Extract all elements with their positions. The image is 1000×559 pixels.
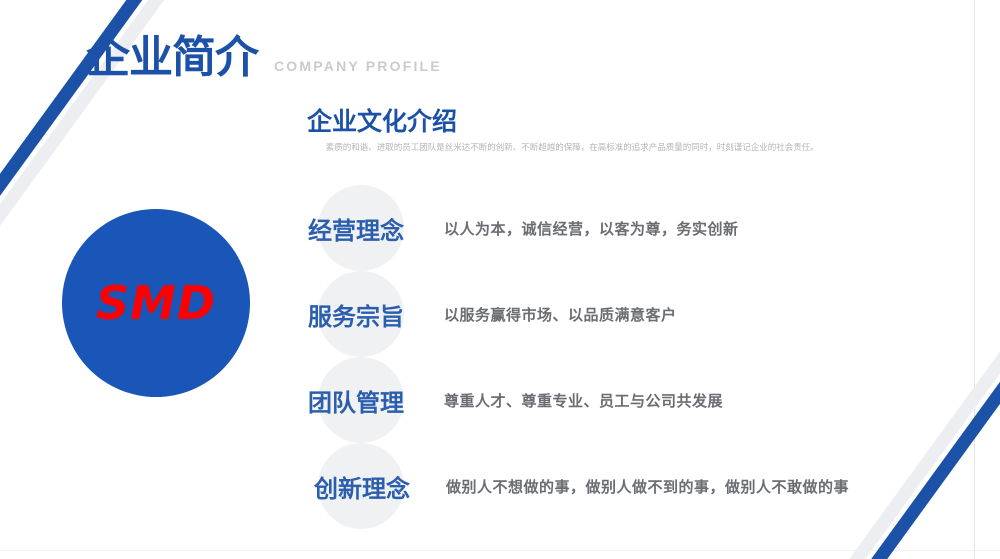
value-description: 以人为本，诚信经营，以客为尊，务实创新	[444, 218, 739, 239]
value-description: 以服务赢得市场、以品质满意客户	[444, 304, 677, 325]
page-title: 企业简介	[86, 36, 258, 80]
list-item: 经营理念 以人为本，诚信经营，以客为尊，务实创新	[300, 185, 940, 271]
company-values-list: 经营理念 以人为本，诚信经营，以客为尊，务实创新 服务宗旨 以服务赢得市场、以品…	[300, 185, 940, 529]
list-item: 服务宗旨 以服务赢得市场、以品质满意客户	[300, 271, 940, 357]
value-description: 尊重人才、尊重专业、员工与公司共发展	[444, 390, 723, 411]
value-label: 创新理念	[314, 469, 446, 504]
slide-header: 企业简介 COMPANY PROFILE	[86, 36, 442, 80]
top-left-ribbon-decoration	[0, 0, 190, 190]
value-description: 做别人不想做的事，做别人做不到的事，做别人不敢做的事	[446, 476, 849, 497]
company-logo-text: SMD	[62, 209, 250, 397]
section-heading: 企业文化介绍	[307, 108, 457, 136]
value-label: 服务宗旨	[308, 297, 440, 332]
value-label: 经营理念	[308, 211, 440, 246]
list-item: 团队管理 尊重人才、尊重专业、员工与公司共发展	[300, 357, 940, 443]
slide-canvas: 企业简介 COMPANY PROFILE 企业文化介绍 素质的和谐、进取的员工团…	[0, 0, 1000, 559]
section-intro-paragraph: 素质的和谐、进取的员工团队是丝米达不断的创新、不断超越的保障，在高标准的追求产品…	[307, 140, 917, 156]
page-subtitle-english: COMPANY PROFILE	[274, 58, 442, 74]
value-label: 团队管理	[308, 383, 440, 418]
company-logo-circle: SMD	[62, 209, 250, 397]
list-item: 创新理念 做别人不想做的事，做别人做不到的事，做别人不敢做的事	[300, 443, 940, 529]
